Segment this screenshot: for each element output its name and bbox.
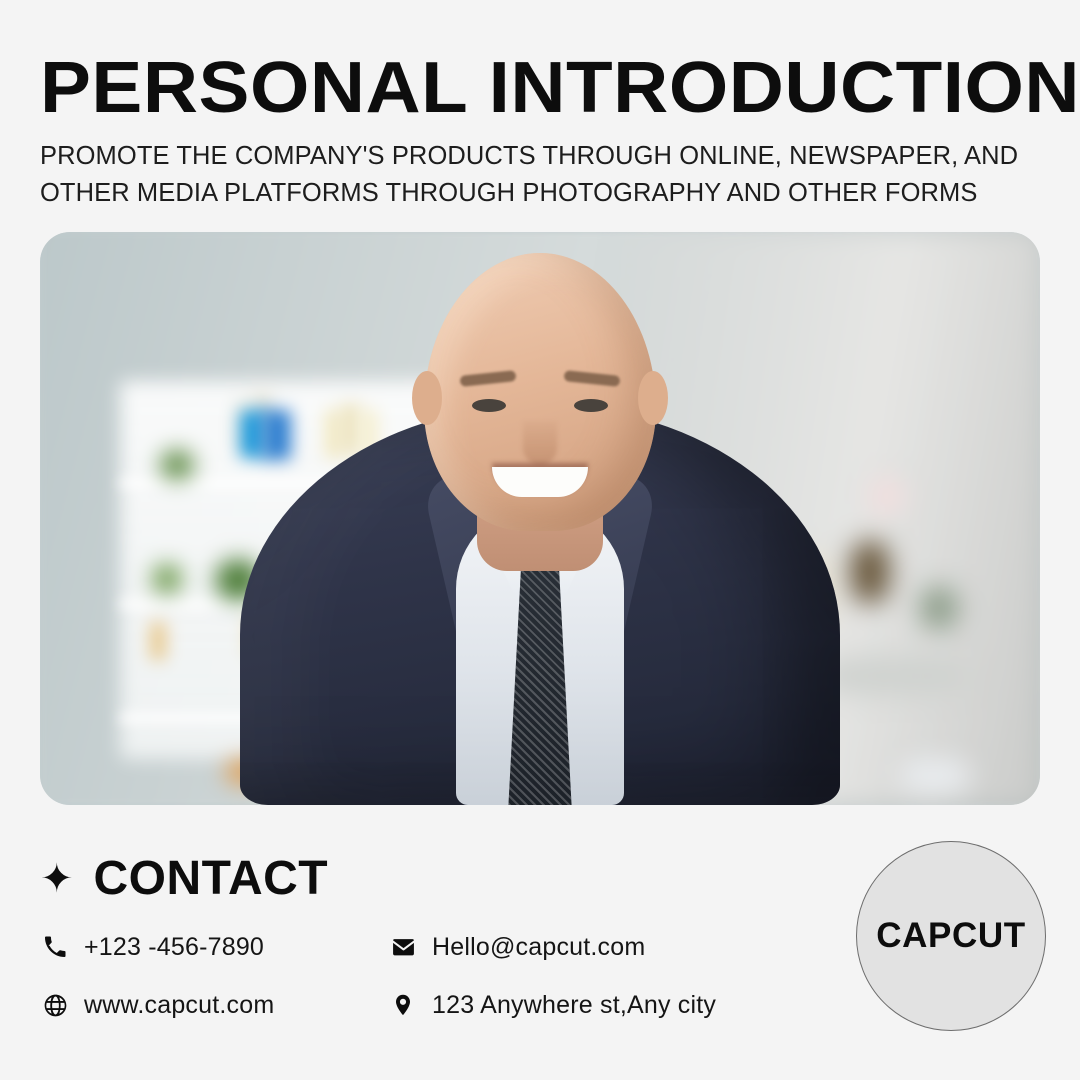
- envelope-icon: [388, 932, 418, 962]
- hero-photo: [40, 232, 1040, 805]
- photo-nose: [523, 421, 557, 465]
- contact-email-label: Hello@capcut.com: [432, 932, 645, 962]
- photo-mouth: [492, 467, 588, 497]
- photo-scene: [40, 232, 1040, 805]
- logo-badge[interactable]: CAPCUT: [856, 841, 1046, 1031]
- photo-brow-right: [564, 370, 621, 387]
- photo-desk-object: [920, 587, 958, 629]
- contact-title: CONTACT: [94, 852, 329, 906]
- photo-glass: [900, 759, 970, 793]
- phone-icon: [40, 932, 70, 962]
- contact-website-label: www.capcut.com: [84, 990, 274, 1020]
- photo-desk-object: [870, 478, 904, 514]
- photo-book: [150, 622, 166, 660]
- photo-neck: [477, 451, 603, 571]
- globe-icon: [40, 990, 70, 1020]
- contact-item-website[interactable]: www.capcut.com: [40, 990, 388, 1020]
- contact-item-email[interactable]: Hello@capcut.com: [388, 932, 830, 962]
- photo-desk-object: [850, 541, 890, 603]
- map-pin-icon: [388, 990, 418, 1020]
- contact-item-phone[interactable]: +123 -456-7890: [40, 932, 388, 962]
- photo-eye-right: [574, 399, 608, 412]
- logo-badge-text: CAPCUT: [876, 916, 1025, 956]
- page-subtitle: PROMOTE THE COMPANY'S PRODUCTS THROUGH O…: [40, 138, 1040, 212]
- photo-ear-left: [412, 371, 442, 425]
- photo-plant: [160, 450, 194, 480]
- photo-suit: [240, 405, 840, 805]
- photo-brow-left: [460, 370, 517, 387]
- contact-list: +123 -456-7890 Hello@capcut.com www.capc…: [40, 918, 830, 1034]
- contact-heading: ✦ CONTACT: [40, 852, 328, 906]
- photo-eye-left: [472, 399, 506, 412]
- contact-phone-label: +123 -456-7890: [84, 932, 264, 962]
- photo-ear-right: [638, 371, 668, 425]
- star-icon: ✦: [40, 859, 74, 899]
- contact-item-address[interactable]: 123 Anywhere st,Any city: [388, 990, 830, 1020]
- photo-person: [230, 375, 850, 805]
- header-block: PERSONAL INTRODUCTION PROMOTE THE COMPAN…: [40, 50, 1040, 212]
- contact-address-label: 123 Anywhere st,Any city: [432, 990, 716, 1020]
- page-title: PERSONAL INTRODUCTION: [40, 50, 1080, 126]
- poster-canvas: PERSONAL INTRODUCTION PROMOTE THE COMPAN…: [0, 0, 1080, 1080]
